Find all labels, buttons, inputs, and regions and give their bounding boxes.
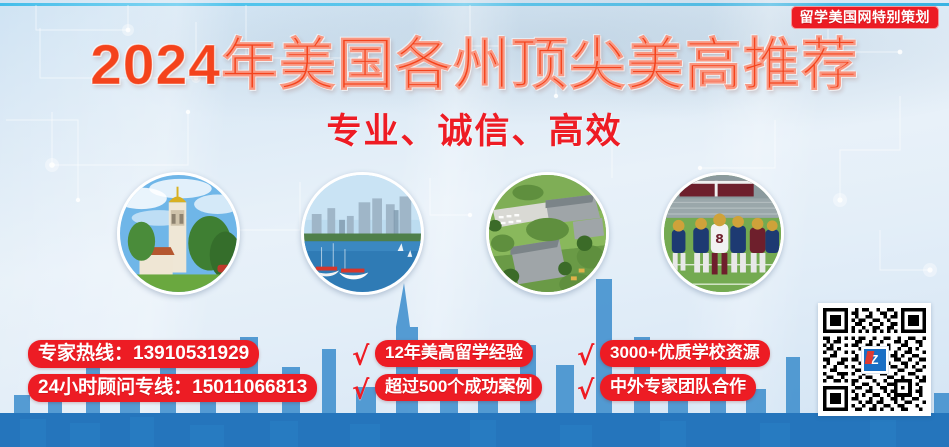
photo-circle-row: 8 (0, 172, 949, 297)
feature-pill-team: 中外专家团队合作 (600, 374, 756, 401)
check-icon: √ (352, 378, 369, 404)
special-feature-badge: 留学美国网特别策划 (791, 6, 940, 29)
feature-label-schools: 3000+优质学校资源 (610, 343, 760, 362)
qr-code[interactable]: Z (818, 303, 931, 416)
photo-campus-bell-tower (117, 172, 240, 295)
waterfront-city-image (304, 175, 421, 292)
campus-bell-tower-image (120, 175, 237, 292)
feature-pill-schools: 3000+优质学校资源 (600, 340, 770, 367)
expert-hotline-label: 专家热线：13910531929 (38, 343, 249, 364)
photo-aerial-campus (486, 172, 609, 295)
advisor-hotline-pill[interactable]: 24小时顾问专线：15011066813 (28, 374, 317, 402)
contact-feature-row: 专家热线：13910531929 24小时顾问专线：15011066813 √ … (0, 340, 949, 410)
badge-label: 留学美国网特别策划 (800, 10, 931, 24)
photo-waterfront-city (301, 172, 424, 295)
svg-text:8: 8 (715, 231, 724, 246)
feature-pill-experience: 12年美高留学经验 (375, 340, 533, 367)
football-game-image: 8 (664, 175, 781, 292)
feature-label-experience: 12年美高留学经验 (385, 343, 523, 362)
qr-center-logo: Z (861, 346, 889, 374)
feature-label-team: 中外专家团队合作 (610, 377, 746, 396)
feature-label-cases: 超过500个成功案例 (385, 377, 532, 396)
promo-banner: 留学美国网特别策划 2024年美国各州顶尖美高推荐 专业、诚信、高效 (0, 0, 949, 447)
check-icon: √ (577, 378, 594, 404)
aerial-campus-image (489, 175, 606, 292)
feature-pill-cases: 超过500个成功案例 (375, 374, 542, 401)
check-icon: √ (577, 344, 594, 370)
page-title: 2024年美国各州顶尖美高推荐 (0, 37, 949, 94)
expert-hotline-pill[interactable]: 专家热线：13910531929 (28, 340, 259, 368)
check-icon: √ (352, 344, 369, 370)
page-subtitle: 专业、诚信、高效 (0, 114, 949, 149)
advisor-hotline-label: 24小时顾问专线：15011066813 (38, 377, 307, 398)
photo-football-game: 8 (661, 172, 784, 295)
